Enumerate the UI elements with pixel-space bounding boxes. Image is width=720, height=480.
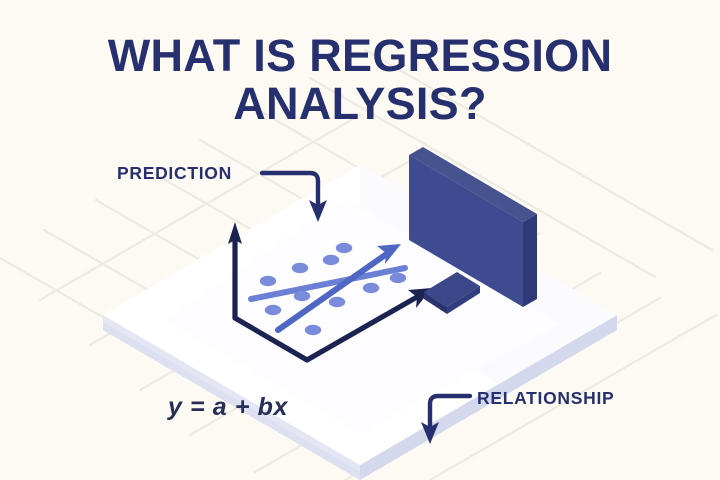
- page-title: WHAT IS REGRESSION ANALYSIS?: [0, 32, 720, 127]
- regression-formula: y = a + bx: [168, 393, 288, 422]
- annotation-label-relationship: RELATIONSHIP: [477, 388, 614, 409]
- monitor-screen-side: [523, 214, 537, 307]
- annotation-label-prediction: PREDICTION: [117, 163, 232, 184]
- scatter-dot: [329, 297, 345, 307]
- scatter-dot: [305, 325, 321, 335]
- scatter-dot: [294, 291, 310, 301]
- illustration-canvas: WHAT IS REGRESSION ANALYSIS? PREDICTION …: [0, 0, 720, 480]
- scatter-dot: [323, 255, 339, 265]
- scatter-dot: [265, 305, 281, 315]
- scatter-dot: [363, 283, 379, 293]
- title-line-2: ANALYSIS?: [0, 80, 720, 128]
- scatter-dot: [260, 276, 276, 286]
- scatter-dot: [336, 243, 352, 253]
- scatter-dot: [390, 273, 406, 283]
- title-line-1: WHAT IS REGRESSION: [0, 32, 720, 80]
- scatter-dot: [292, 263, 308, 273]
